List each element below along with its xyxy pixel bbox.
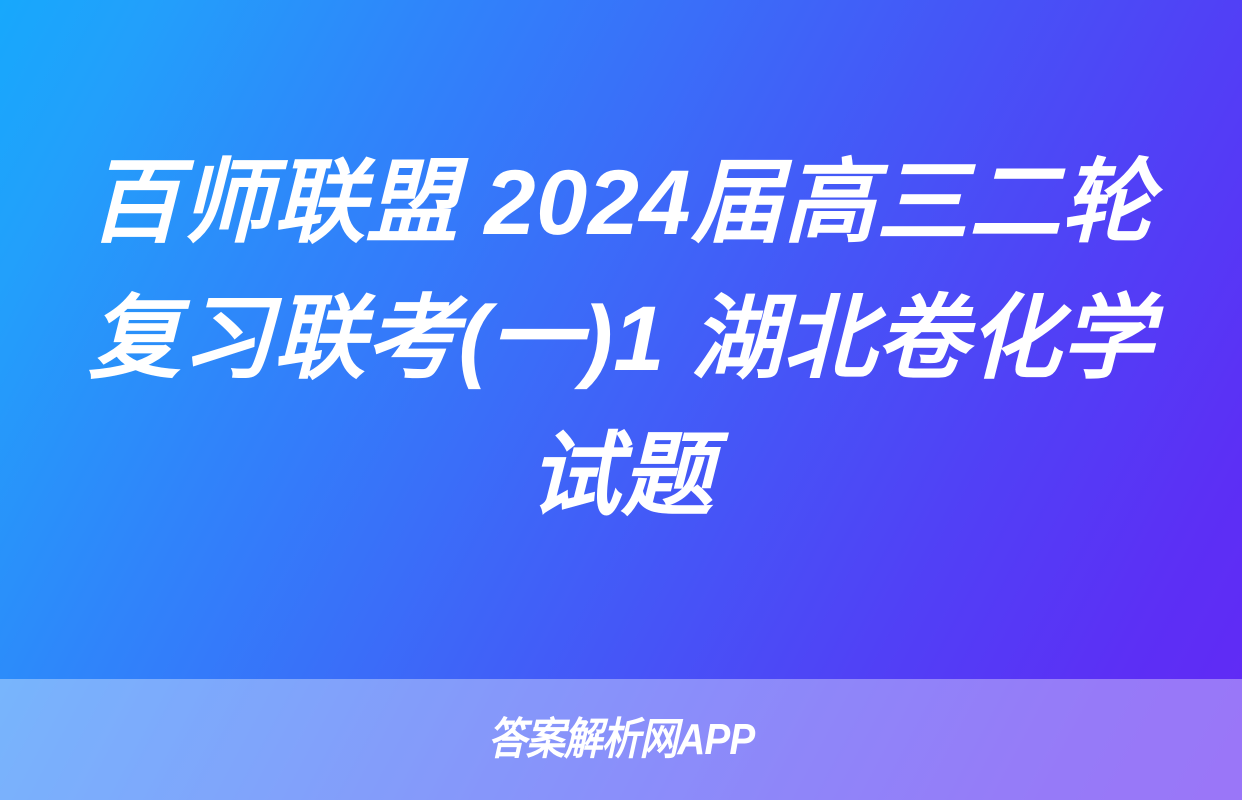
page-title: 百师联盟 2024届高三二轮复习联考(一)1 湖北卷化学试题 [52,135,1190,543]
watermark-band: 答案解析网APP [0,679,1242,800]
exam-cover-card: 百师联盟 2024届高三二轮复习联考(一)1 湖北卷化学试题 答案解析网APP [0,0,1242,800]
title-block: 百师联盟 2024届高三二轮复习联考(一)1 湖北卷化学试题 [0,0,1242,679]
watermark-text: 答案解析网APP [488,718,754,762]
